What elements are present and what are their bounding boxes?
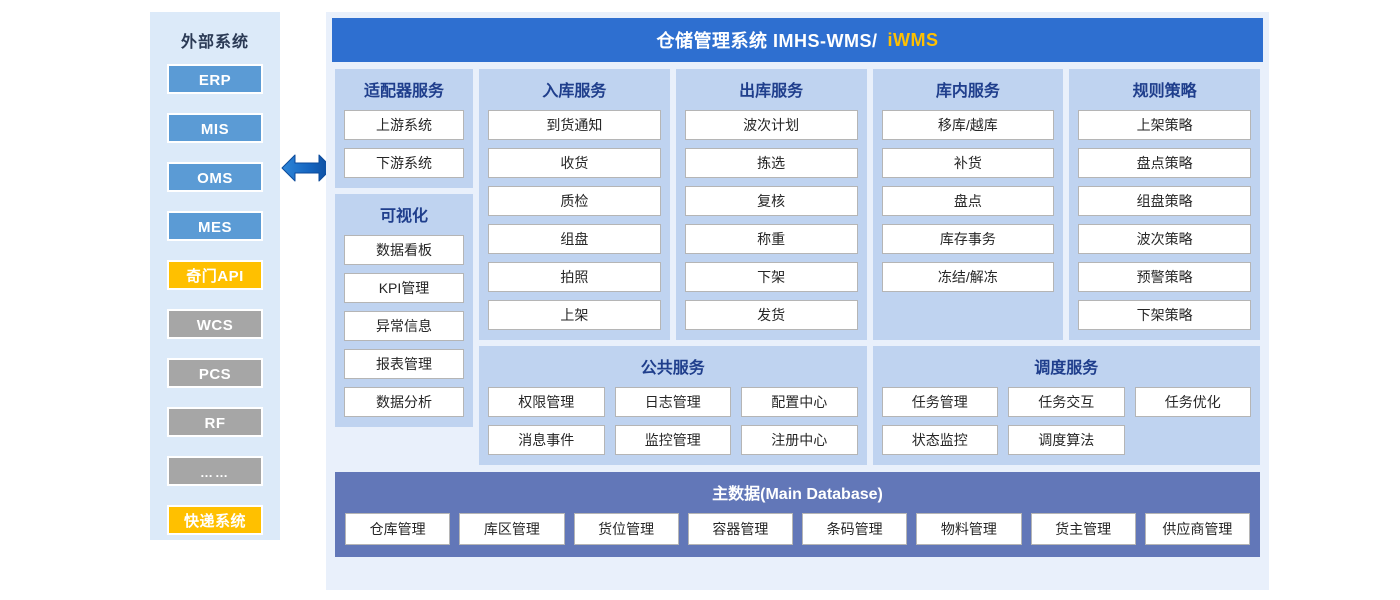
service-item[interactable]: 库区管理 (459, 513, 564, 545)
service-item[interactable]: 数据看板 (344, 235, 464, 265)
service-item[interactable]: 上游系统 (344, 110, 464, 140)
service-item[interactable]: 货主管理 (1031, 513, 1136, 545)
service-item[interactable]: 称重 (685, 224, 858, 254)
service-item[interactable]: 预警策略 (1078, 262, 1251, 292)
panel-items-adapter-service: 上游系统下游系统 (344, 110, 464, 178)
panel-visualization: 可视化 数据看板KPI管理异常信息报表管理数据分析 (335, 194, 473, 427)
service-item[interactable]: 报表管理 (344, 349, 464, 379)
panel-adapter-service: 适配器服务 上游系统下游系统 (335, 69, 473, 188)
external-systems-title: 外部系统 (181, 28, 249, 52)
service-item[interactable]: 任务优化 (1135, 387, 1252, 417)
external-system-chip[interactable]: WCS (167, 309, 263, 339)
panel-title-visualization: 可视化 (344, 202, 464, 226)
service-item[interactable]: 波次策略 (1078, 224, 1251, 254)
service-item[interactable]: 供应商管理 (1145, 513, 1250, 545)
panel-title-inhouse-service: 库内服务 (882, 77, 1055, 101)
architecture-diagram: 外部系统 ERPMISOMSMES奇门APIWCSPCSRF……快递系统 仓储管… (0, 0, 1400, 600)
service-item[interactable]: 到货通知 (488, 110, 661, 140)
service-item[interactable]: 拣选 (685, 148, 858, 178)
service-item[interactable]: KPI管理 (344, 273, 464, 303)
service-item[interactable]: 组盘策略 (1078, 186, 1251, 216)
service-item[interactable]: 数据分析 (344, 387, 464, 417)
panel-rule-strategy: 规则策略 上架策略盘点策略组盘策略波次策略预警策略下架策略 (1069, 69, 1260, 340)
service-item[interactable]: 物料管理 (916, 513, 1021, 545)
panel-items-inbound-service: 到货通知收货质检组盘拍照上架 (488, 110, 661, 330)
wms-header-accent: iWMS (888, 30, 939, 51)
service-item[interactable]: 调度算法 (1008, 425, 1125, 455)
service-item[interactable]: 仓库管理 (345, 513, 450, 545)
service-item[interactable]: 日志管理 (615, 387, 732, 417)
wms-container: 仓储管理系统 IMHS-WMS/ iWMS 适配器服务 上游系统下游系统 可视化… (326, 12, 1269, 590)
service-item[interactable]: 冻结/解冻 (882, 262, 1055, 292)
external-system-chip[interactable]: RF (167, 407, 263, 437)
service-item[interactable]: 消息事件 (488, 425, 605, 455)
service-item[interactable]: 权限管理 (488, 387, 605, 417)
service-item[interactable]: 配置中心 (741, 387, 858, 417)
panel-title-outbound-service: 出库服务 (685, 77, 858, 101)
external-system-chip[interactable]: …… (167, 456, 263, 486)
panel-title-scheduling-service: 调度服务 (882, 354, 1252, 378)
service-item[interactable]: 波次计划 (685, 110, 858, 140)
panel-items-common-service: 权限管理日志管理配置中心消息事件监控管理注册中心 (488, 387, 858, 455)
service-item[interactable]: 发货 (685, 300, 858, 330)
service-item[interactable]: 任务管理 (882, 387, 999, 417)
service-item[interactable]: 复核 (685, 186, 858, 216)
panel-common-service: 公共服务 权限管理日志管理配置中心消息事件监控管理注册中心 (479, 346, 867, 465)
service-item[interactable]: 移库/越库 (882, 110, 1055, 140)
main-database-items: 仓库管理库区管理货位管理容器管理条码管理物料管理货主管理供应商管理 (345, 513, 1250, 545)
service-item[interactable]: 上架策略 (1078, 110, 1251, 140)
panel-title-inbound-service: 入库服务 (488, 77, 661, 101)
panel-title-rule-strategy: 规则策略 (1078, 77, 1251, 101)
main-database-title: 主数据(Main Database) (345, 480, 1250, 504)
external-system-chip[interactable]: MIS (167, 113, 263, 143)
service-item[interactable]: 上架 (488, 300, 661, 330)
service-item[interactable]: 条码管理 (802, 513, 907, 545)
wms-header: 仓储管理系统 IMHS-WMS/ iWMS (332, 18, 1263, 62)
service-item[interactable]: 组盘 (488, 224, 661, 254)
service-item[interactable]: 盘点 (882, 186, 1055, 216)
external-systems-list: ERPMISOMSMES奇门APIWCSPCSRF……快递系统 (158, 64, 272, 535)
service-item[interactable]: 监控管理 (615, 425, 732, 455)
service-item[interactable]: 货位管理 (574, 513, 679, 545)
service-item[interactable]: 任务交互 (1008, 387, 1125, 417)
panel-scheduling-service: 调度服务 任务管理任务交互任务优化状态监控调度算法 (873, 346, 1261, 465)
external-system-chip[interactable]: ERP (167, 64, 263, 94)
service-item[interactable]: 收货 (488, 148, 661, 178)
service-item[interactable]: 补货 (882, 148, 1055, 178)
external-system-chip[interactable]: PCS (167, 358, 263, 388)
wms-body: 适配器服务 上游系统下游系统 可视化 数据看板KPI管理异常信息报表管理数据分析… (332, 69, 1263, 465)
service-item[interactable]: 注册中心 (741, 425, 858, 455)
panel-inhouse-service: 库内服务 移库/越库补货盘点库存事务冻结/解冻 (873, 69, 1064, 340)
service-item[interactable]: 下架策略 (1078, 300, 1251, 330)
external-system-chip[interactable]: OMS (167, 162, 263, 192)
column-adapter-visualization: 适配器服务 上游系统下游系统 可视化 数据看板KPI管理异常信息报表管理数据分析 (335, 69, 473, 465)
external-systems-rail: 外部系统 ERPMISOMSMES奇门APIWCSPCSRF……快递系统 (150, 12, 280, 540)
panel-items-scheduling-service: 任务管理任务交互任务优化状态监控调度算法 (882, 387, 1252, 455)
external-system-chip[interactable]: 快递系统 (167, 505, 263, 535)
panel-items-rule-strategy: 上架策略盘点策略组盘策略波次策略预警策略下架策略 (1078, 110, 1251, 330)
service-item[interactable]: 质检 (488, 186, 661, 216)
panel-inbound-service: 入库服务 到货通知收货质检组盘拍照上架 (479, 69, 670, 340)
panel-items-inhouse-service: 移库/越库补货盘点库存事务冻结/解冻 (882, 110, 1055, 292)
service-item[interactable]: 容器管理 (688, 513, 793, 545)
panel-title-common-service: 公共服务 (488, 354, 858, 378)
service-item[interactable]: 拍照 (488, 262, 661, 292)
panel-outbound-service: 出库服务 波次计划拣选复核称重下架发货 (676, 69, 867, 340)
external-system-chip[interactable]: 奇门API (167, 260, 263, 290)
service-item[interactable]: 下游系统 (344, 148, 464, 178)
panel-items-visualization: 数据看板KPI管理异常信息报表管理数据分析 (344, 235, 464, 417)
panel-title-adapter-service: 适配器服务 (344, 77, 464, 101)
panel-items-outbound-service: 波次计划拣选复核称重下架发货 (685, 110, 858, 330)
external-system-chip[interactable]: MES (167, 211, 263, 241)
wms-header-title: 仓储管理系统 IMHS-WMS/ (657, 27, 878, 53)
service-item[interactable]: 库存事务 (882, 224, 1055, 254)
service-item[interactable]: 异常信息 (344, 311, 464, 341)
service-item[interactable]: 盘点策略 (1078, 148, 1251, 178)
service-item[interactable]: 下架 (685, 262, 858, 292)
main-database-panel: 主数据(Main Database) 仓库管理库区管理货位管理容器管理条码管理物… (335, 472, 1260, 557)
service-item[interactable]: 状态监控 (882, 425, 999, 455)
